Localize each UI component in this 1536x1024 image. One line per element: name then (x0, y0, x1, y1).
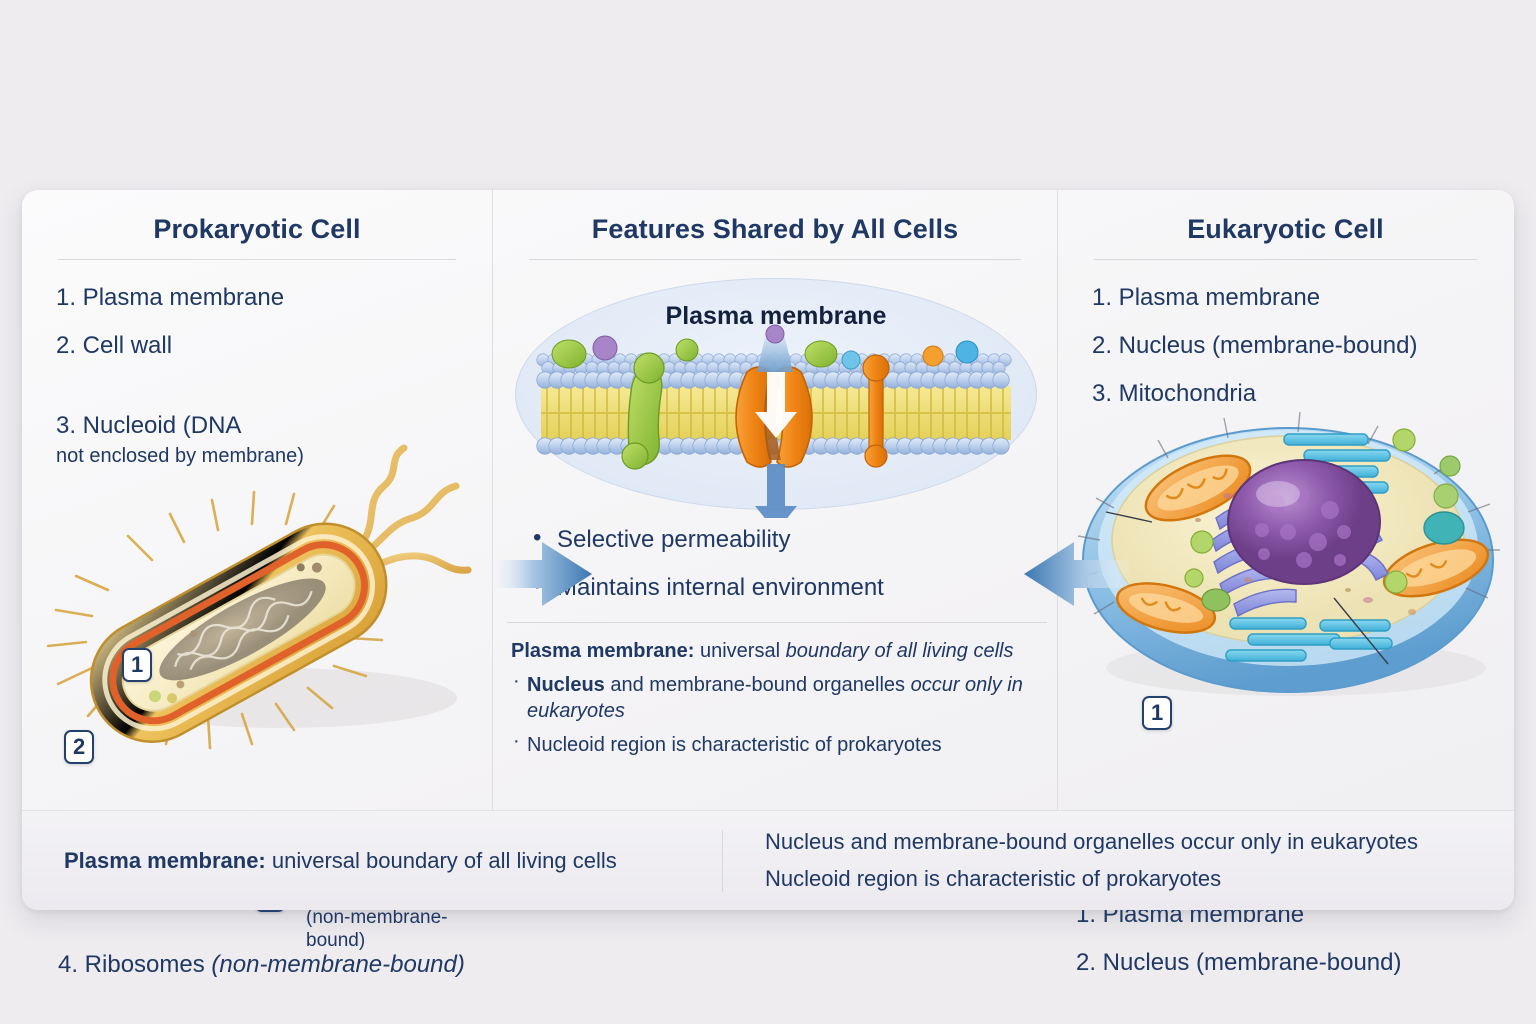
shared-feature-bullets: Selective permeability Maintains interna… (531, 526, 1031, 622)
panel-title-prokaryotic: Prokaryotic Cell (22, 190, 492, 245)
title-divider-center (529, 259, 1021, 260)
list-item-number: 4. Ribosomes (58, 951, 211, 978)
footer-right-line: Nucleus and membrane-bound organelles oc… (765, 829, 1418, 855)
footer-right-text: Nucleus and membrane-bound organelles oc… (723, 829, 1418, 892)
arrow-right-to-center (1022, 538, 1132, 615)
plasma-membrane-illustration: Plasma membrane (501, 268, 1051, 518)
footer-right-line: Nucleoid region is characteristic of pro… (765, 866, 1418, 892)
list-item: 2. Nucleus (membrane-bound) (1092, 330, 1513, 362)
note-bullet-plain: and membrane-bound organelles (605, 674, 911, 696)
note-lead: Plasma membrane: universal boundary of a… (511, 640, 1039, 663)
panel-title-eukaryotic: Eukaryotic Cell (1058, 190, 1513, 245)
list-item-italic: (non-membrane-bound) (211, 951, 464, 978)
callout-badge-1: 1 (122, 648, 152, 682)
prokaryotic-cell-illustration (32, 430, 492, 760)
list-item: 1. Plasma membrane (56, 282, 492, 314)
note-bullet: Nucleus and membrane-bound organelles oc… (511, 672, 1039, 724)
note-lead-italic: boundary of all living cells (786, 640, 1014, 662)
center-notes: Plasma membrane: universal boundary of a… (511, 640, 1039, 766)
footer-summary: Plasma membrane: universal boundary of a… (22, 810, 1514, 910)
panel-prokaryotic: Prokaryotic Cell 1. Plasma membrane 2. C… (22, 190, 492, 810)
bullet-item: Maintains internal environment (531, 574, 1031, 602)
ribosomes-label-sub: (non-membrane-bound) (298, 906, 492, 952)
main-card: Prokaryotic Cell 1. Plasma membrane 2. C… (22, 190, 1514, 910)
center-divider (507, 622, 1047, 623)
footer-left-bold: Plasma membrane: (64, 848, 266, 873)
panel-eukaryotic: Eukaryotic Cell 1. Plasma membrane 2. Nu… (1058, 190, 1513, 810)
panel-title-shared: Features Shared by All Cells (493, 190, 1057, 245)
note-lead-rest: universal (694, 640, 785, 662)
bullet-item: Selective permeability (531, 526, 1031, 554)
note-bullet: Nucleoid region is characteristic of pro… (511, 732, 1039, 758)
callout-badge-2: 2 (64, 730, 94, 764)
diagram-stage: Prokaryotic Cell 1. Plasma membrane 2. C… (0, 0, 1536, 1024)
prokaryotic-list-item-4: 4. Ribosomes (non-membrane-bound) (58, 950, 465, 979)
list-item: 1. Plasma membrane (1092, 282, 1513, 314)
footer-left-text: Plasma membrane: universal boundary of a… (22, 848, 722, 874)
panel-columns: Prokaryotic Cell 1. Plasma membrane 2. C… (22, 190, 1514, 810)
arrow-left-to-center (484, 538, 594, 615)
note-bullet-bold: Nucleus (527, 674, 605, 696)
callout-badge-euk-1: 1 (1142, 696, 1172, 730)
eukaryotic-feature-list: 1. Plasma membrane 2. Nucleus (membrane-… (1058, 260, 1513, 410)
eukaryotic-bottom-item-2: 2. Nucleus (membrane-bound) (1076, 948, 1402, 977)
footer-left-rest: universal boundary of all living cells (266, 848, 617, 873)
panel-shared-features: Features Shared by All Cells Plasma memb… (492, 190, 1058, 810)
note-lead-bold: Plasma membrane: (511, 640, 694, 662)
note-bullet-plain: Nucleoid region is characteristic of pro… (527, 734, 942, 756)
list-item: 2. Cell wall (56, 330, 492, 362)
